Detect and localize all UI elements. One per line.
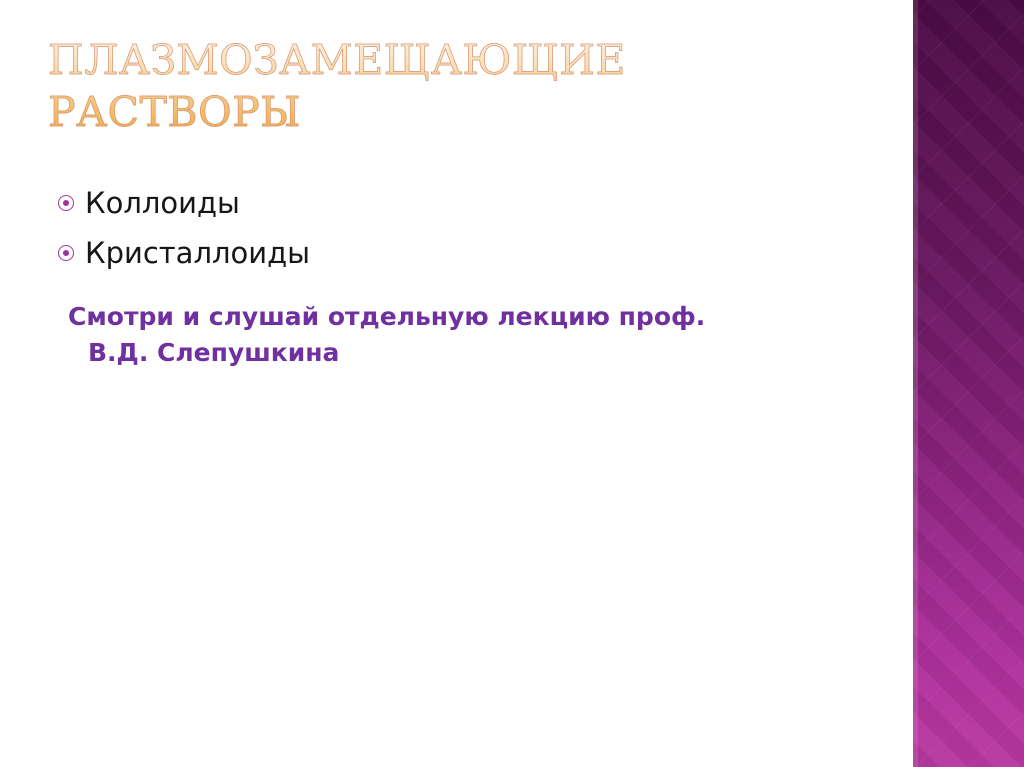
slide-title: Плазмозамещающие растворы: [48, 34, 688, 138]
side-panel-edge-highlight: [913, 0, 918, 767]
slide-canvas: Плазмозамещающие растворы Коллоиды Крист…: [0, 0, 1024, 767]
circle-dot-bullet-icon: [58, 245, 74, 261]
bullet-list: Коллоиды Кристаллоиды: [58, 186, 858, 286]
note-paragraph: Смотри и слушай отдельную лекцию проф. В…: [68, 299, 858, 371]
side-panel: [913, 0, 1024, 767]
note-line-2: В.Д. Слепушкина: [68, 335, 858, 371]
note-line-1: Смотри и слушай отдельную лекцию проф.: [68, 302, 705, 331]
list-item: Коллоиды: [58, 186, 858, 220]
bullet-label: Коллоиды: [85, 186, 240, 220]
side-panel-texture: [913, 0, 1024, 767]
bullet-label: Кристаллоиды: [85, 236, 310, 270]
circle-dot-bullet-icon: [58, 195, 74, 211]
list-item: Кристаллоиды: [58, 236, 858, 270]
